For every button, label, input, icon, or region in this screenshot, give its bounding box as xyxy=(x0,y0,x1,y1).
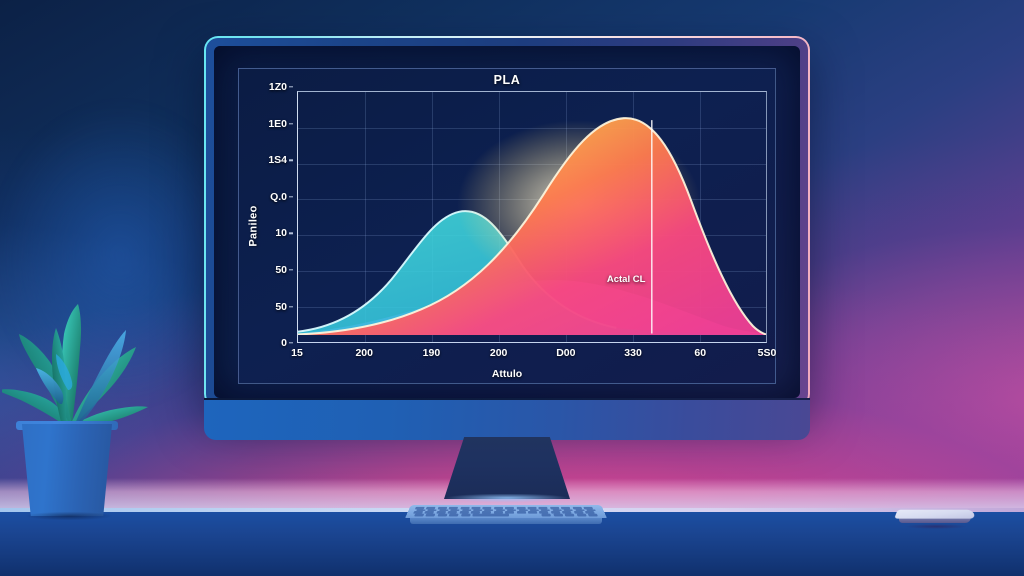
y-axis-tick-label: 0 xyxy=(281,337,287,349)
keyboard-top[interactable] xyxy=(405,505,607,518)
keyboard-key[interactable] xyxy=(565,514,575,516)
y-axis-tick xyxy=(289,160,293,161)
y-axis-tick-label: Q.0 xyxy=(270,191,287,203)
keyboard-key[interactable] xyxy=(517,511,526,513)
y-axis-tick-label: 50 xyxy=(275,301,287,313)
keyboard-key[interactable] xyxy=(472,514,509,516)
y-axis-tick xyxy=(289,269,293,270)
keyboard-key[interactable] xyxy=(449,514,459,516)
mouse-shadow xyxy=(892,523,980,530)
keyboard-key[interactable] xyxy=(528,511,537,513)
x-axis-tick-label: 5S0 xyxy=(758,347,777,359)
mouse[interactable] xyxy=(896,508,974,528)
keyboard[interactable] xyxy=(408,504,604,528)
y-axis-tick xyxy=(289,233,293,234)
plant-leaves-icon xyxy=(2,286,152,436)
keyboard-key[interactable] xyxy=(553,514,563,516)
desktop-scene: PLA Panileo 1Z01E01S4Q.01050500 xyxy=(0,0,1024,576)
mouse-top[interactable] xyxy=(894,510,976,519)
chart[interactable]: PLA Panileo 1Z01E01S4Q.01050500 xyxy=(239,69,775,383)
keyboard-key[interactable] xyxy=(426,514,436,516)
chart-annotation: Actal CL xyxy=(607,274,646,285)
x-axis-tick-label: 200 xyxy=(490,347,508,359)
y-axis-tick-label: 1S4 xyxy=(268,154,287,166)
screen-inner-frame: PLA Panileo 1Z01E01S4Q.01050500 xyxy=(238,68,776,384)
y-axis-tick xyxy=(289,306,293,307)
keyboard-key[interactable] xyxy=(461,514,471,516)
plant-pot xyxy=(18,424,116,516)
x-axis-tick-label: 60 xyxy=(694,347,706,359)
plot-area[interactable]: Actal CL xyxy=(297,91,767,343)
chart-curves xyxy=(298,92,766,335)
monitor[interactable]: PLA Panileo 1Z01E01S4Q.01050500 xyxy=(204,36,810,408)
monitor-stand xyxy=(444,437,570,499)
keyboard-key[interactable] xyxy=(414,514,424,516)
plant-shadow xyxy=(8,510,130,522)
grid-line-horizontal xyxy=(298,342,766,343)
x-axis-tick-label: 200 xyxy=(355,347,373,359)
x-axis-labels: 15200190200D00330605S0 xyxy=(297,347,767,363)
keyboard-key[interactable] xyxy=(437,514,447,516)
y-axis-tick xyxy=(289,86,293,87)
monitor-stand-glow xyxy=(424,494,590,504)
keyboard-keys[interactable] xyxy=(412,507,600,517)
y-axis-tick xyxy=(289,196,293,197)
y-axis-tick-label: 50 xyxy=(275,264,287,276)
y-axis-tick-label: 1Z0 xyxy=(269,81,287,93)
x-axis-title: Attulo xyxy=(239,368,775,380)
x-axis-tick-label: D00 xyxy=(556,347,575,359)
monitor-chin xyxy=(204,400,810,440)
y-axis-tick-label: 10 xyxy=(275,227,287,239)
potted-plant xyxy=(2,286,152,522)
x-axis-tick-label: 190 xyxy=(423,347,441,359)
chart-title: PLA xyxy=(239,73,775,87)
y-axis-tick xyxy=(289,123,293,124)
y-axis-tick-label: 1E0 xyxy=(268,118,287,130)
keyboard-key[interactable] xyxy=(588,514,598,516)
x-axis-tick-label: 330 xyxy=(624,347,642,359)
y-axis-labels: 1Z01E01S4Q.01050500 xyxy=(239,87,295,343)
monitor-screen[interactable]: PLA Panileo 1Z01E01S4Q.01050500 xyxy=(214,46,800,398)
keyboard-key[interactable] xyxy=(542,514,552,516)
keyboard-key[interactable] xyxy=(576,514,586,516)
y-axis-tick xyxy=(289,342,293,343)
x-axis-tick-label: 15 xyxy=(291,347,303,359)
